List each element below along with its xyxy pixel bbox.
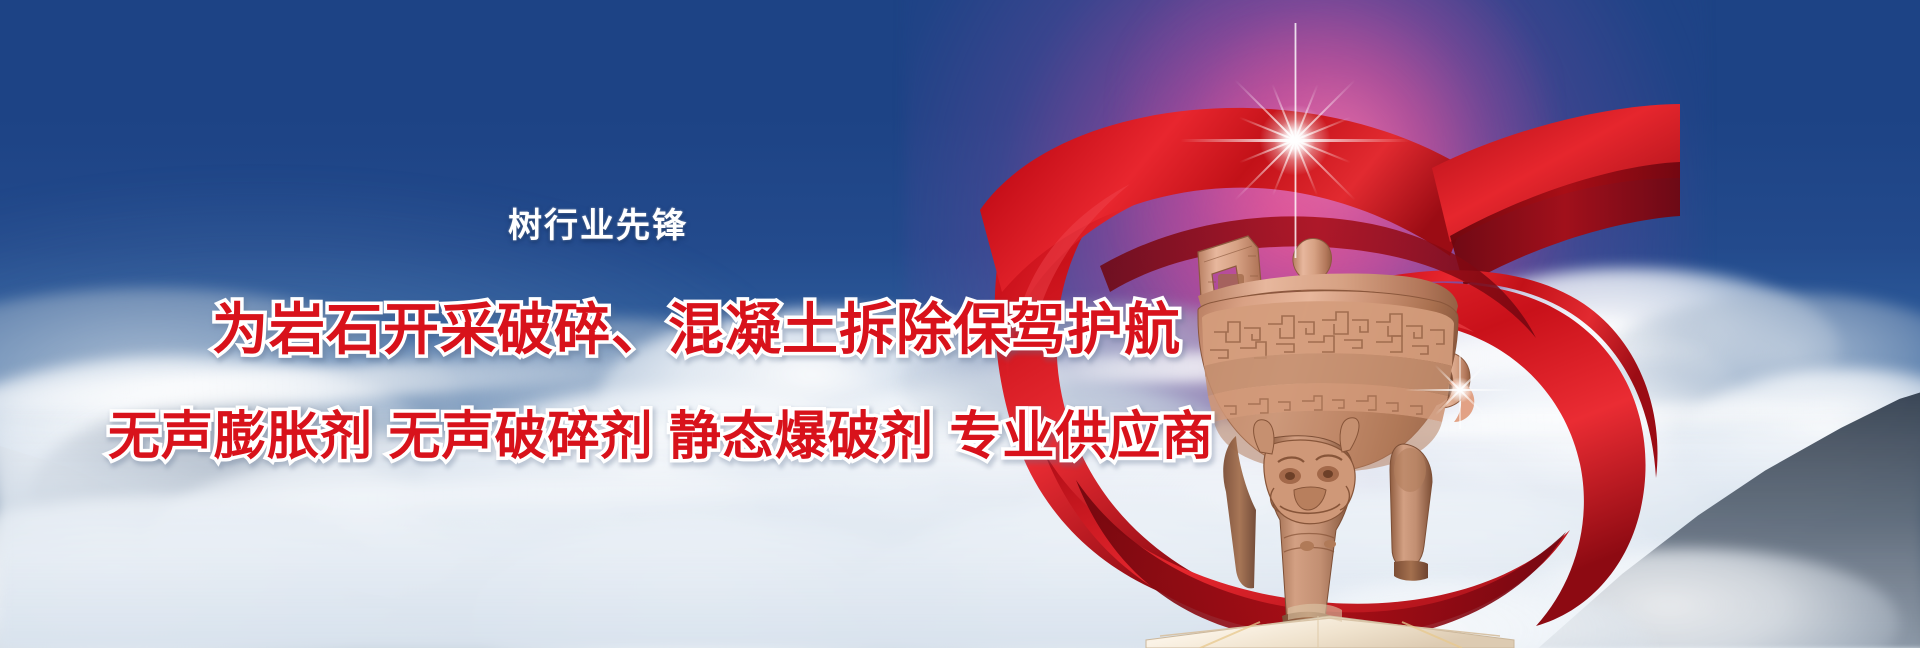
stone-pedestal (1146, 616, 1514, 648)
ding-leg-stud (1300, 541, 1314, 551)
ding-leg-right-foot (1394, 561, 1428, 581)
headline-line1: 为岩石开采破碎、混凝土拆除保驾护航 (212, 285, 1181, 366)
starburst-icon (1175, 20, 1415, 260)
sparkle-core (1447, 377, 1473, 403)
star-core (1260, 105, 1330, 175)
ding-leg-right-mask (1394, 448, 1426, 492)
tagline: 树行业先锋 (508, 198, 688, 247)
headline-line2: 无声膨胀剂 无声破碎剂 静态爆破剂 专业供应商 (108, 394, 1214, 469)
sparkle-icon (1400, 330, 1520, 450)
hero-banner: 树行业先锋 为岩石开采破碎、混凝土拆除保驾护航 为岩石开采破碎、混凝土拆除保驾护… (0, 0, 1920, 648)
ding-leg-stud (1324, 540, 1336, 548)
headline-group: 树行业先锋 为岩石开采破碎、混凝土拆除保驾护航 为岩石开采破碎、混凝土拆除保驾护… (0, 0, 1120, 470)
